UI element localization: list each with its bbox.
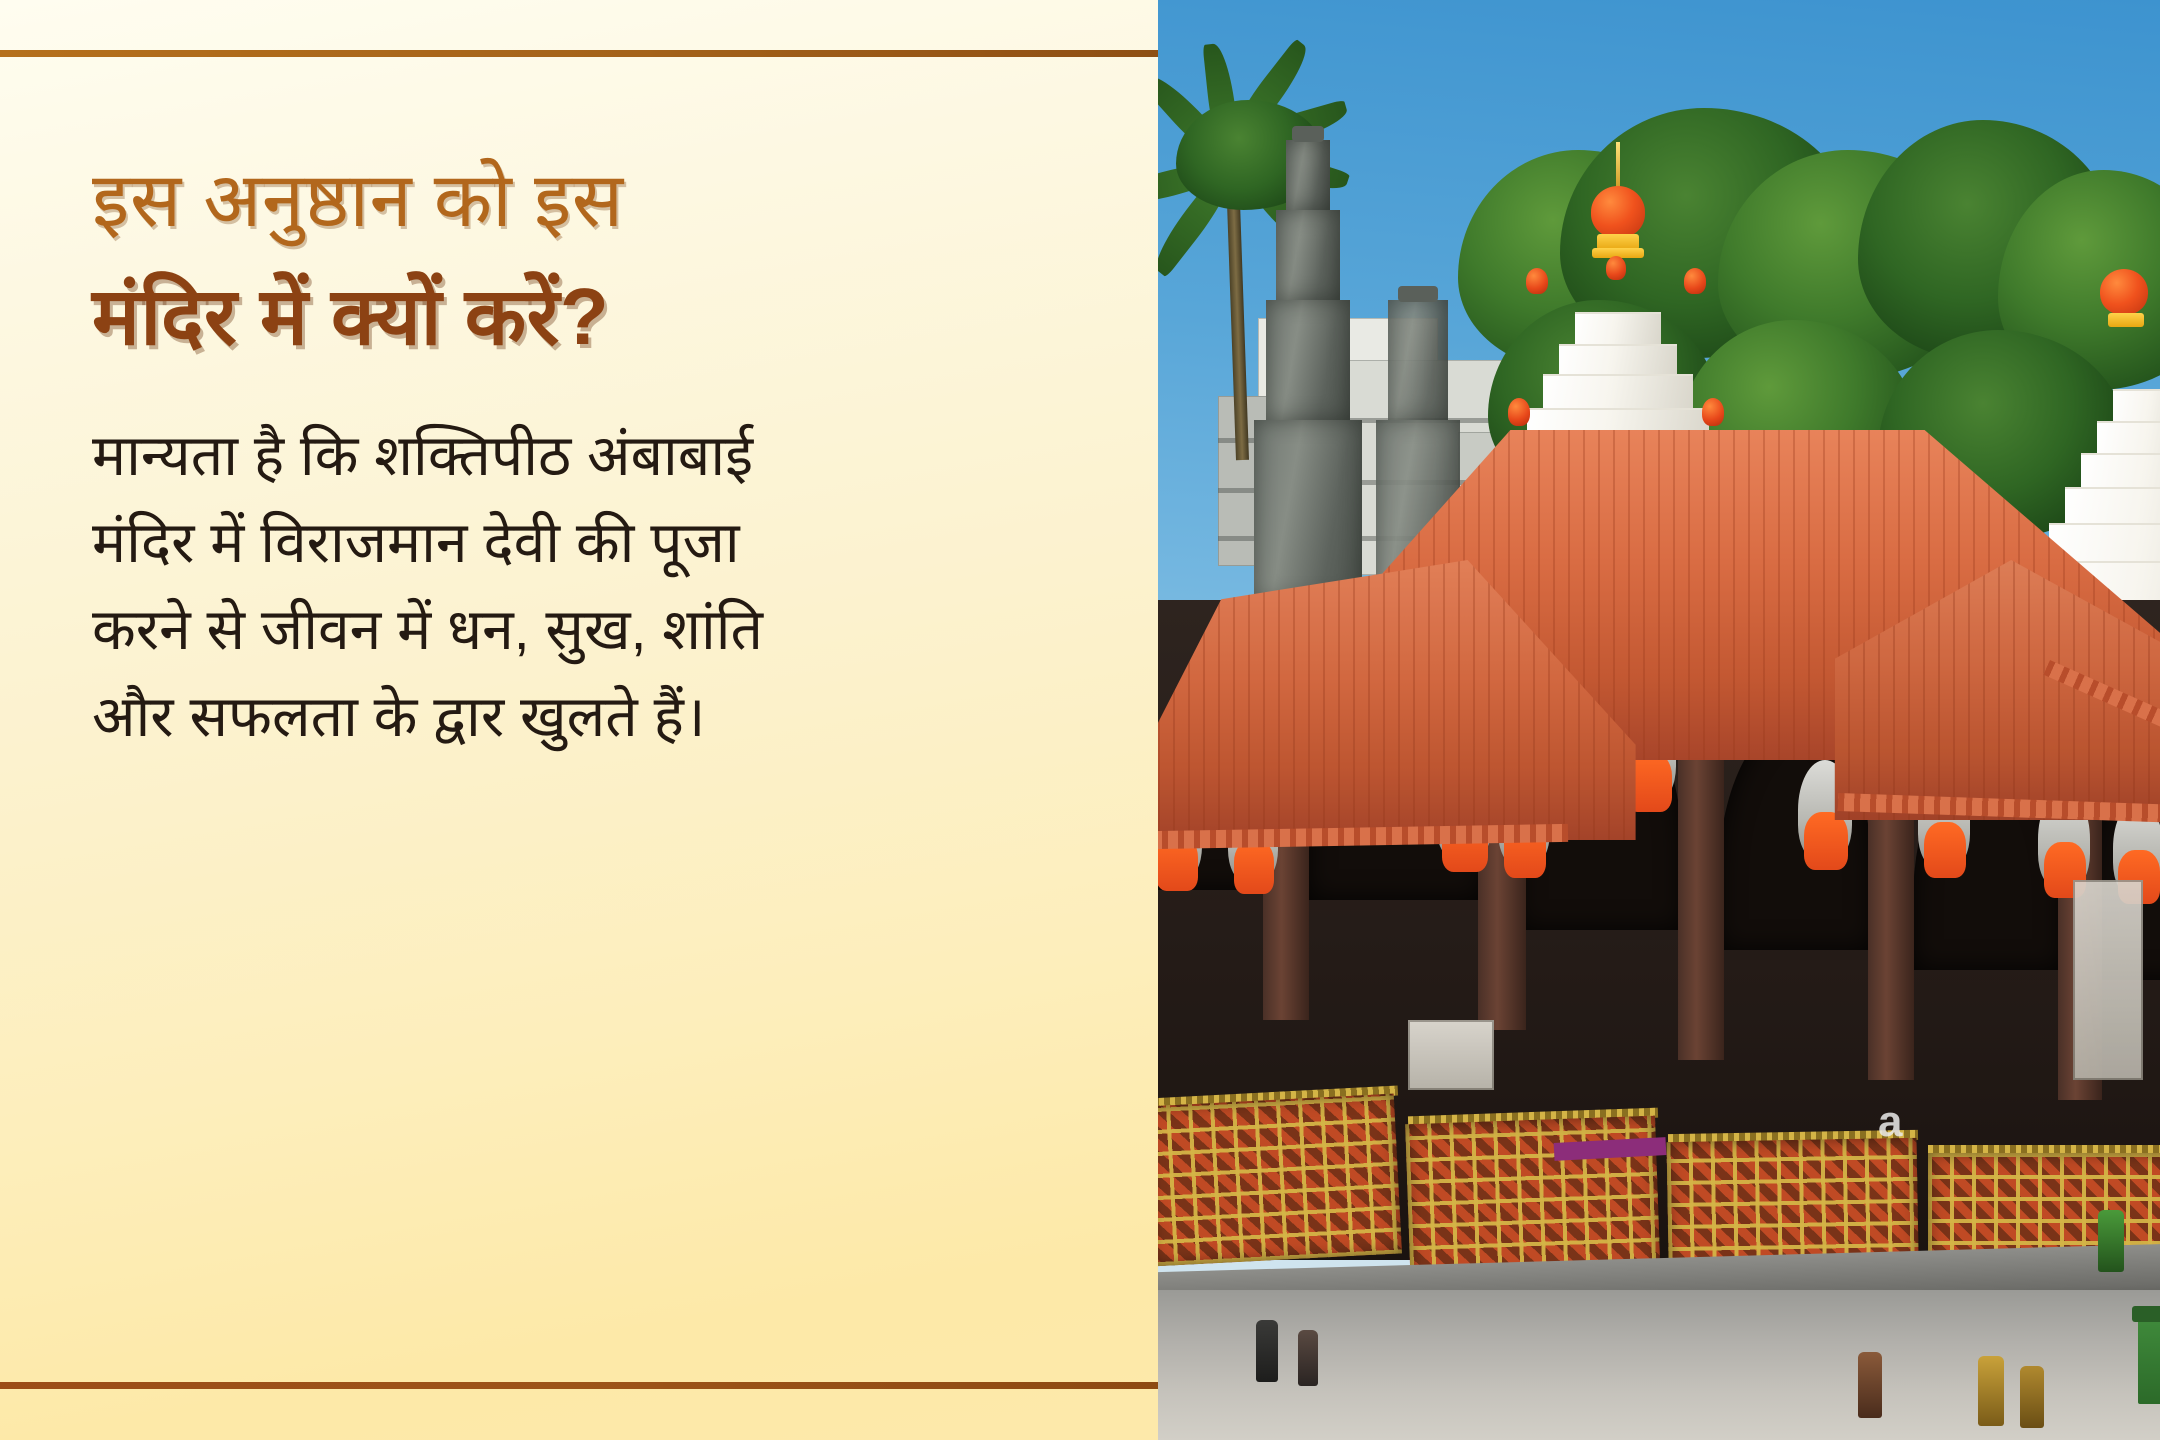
text-panel: इस अनुष्ठान को इस मंदिर में क्यों करें? … — [0, 0, 1158, 1440]
body-line-4: और सफलता के द्वार खुलते हैं। — [92, 674, 992, 761]
waste-bin-lid — [2132, 1306, 2160, 1322]
person-1 — [1256, 1320, 1278, 1382]
person-3 — [1858, 1352, 1882, 1418]
wall-signboard-right — [2073, 880, 2143, 1080]
body-line-3: करने से जीवन में धन, सुख, शांति — [92, 587, 992, 674]
top-divider-rule — [0, 50, 1158, 57]
heading-line-2: मंदिर में क्यों करें? — [92, 265, 1052, 369]
grille-panel-1 — [1158, 1094, 1402, 1267]
slide-root: इस अनुष्ठान को इस मंदिर में क्यों करें? … — [0, 0, 2160, 1440]
body-line-2: मंदिर में विराजमान देवी की पूजा — [92, 500, 992, 587]
page-title: इस अनुष्ठान को इस मंदिर में क्यों करें? — [92, 152, 1052, 369]
body-line-1: मान्यता है कि शक्तिपीठ अंबाबाई — [92, 413, 992, 500]
temple-photograph: a — [1158, 0, 2160, 1440]
waste-bin — [2138, 1318, 2160, 1404]
person-2 — [1298, 1330, 1318, 1386]
body-paragraph: मान्यता है कि शक्तिपीठ अंबाबाई मंदिर में… — [92, 413, 992, 762]
person-5 — [2020, 1366, 2044, 1428]
heading-line-1: इस अनुष्ठान को इस — [92, 152, 1052, 251]
notice-signboard — [1408, 1020, 1494, 1090]
bottom-divider-rule — [0, 1382, 1158, 1389]
person-4 — [1978, 1356, 2004, 1426]
person-6 — [2098, 1210, 2124, 1272]
watermark-letter: a — [1878, 1100, 1902, 1144]
text-content-block: इस अनुष्ठान को इस मंदिर में क्यों करें? … — [92, 152, 1052, 762]
